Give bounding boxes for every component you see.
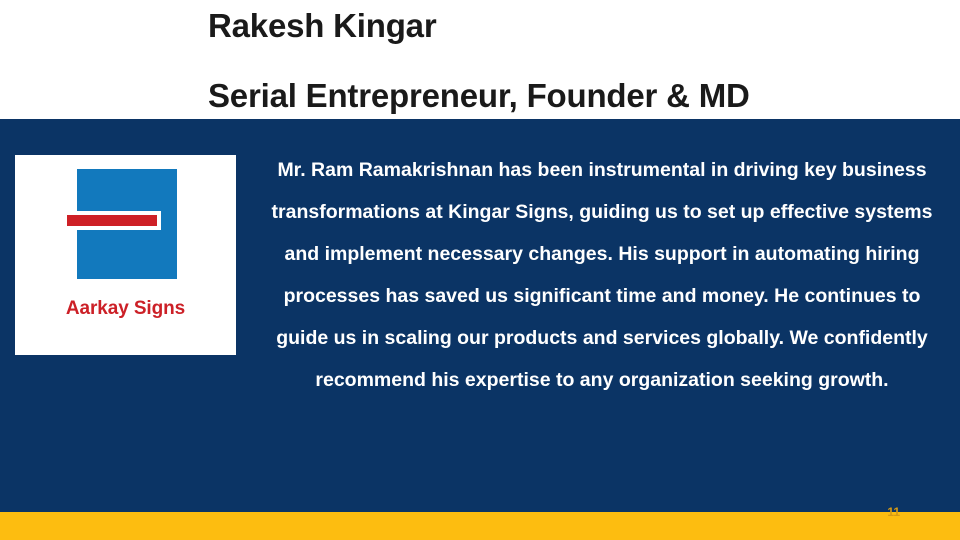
page-title: Rakesh Kingar (208, 6, 904, 46)
company-logo-card: Aarkay Signs (15, 155, 236, 355)
company-name-label: Aarkay Signs (15, 298, 236, 320)
testimonial-panel: Aarkay Signs Mr. Ram Ramakrishnan has be… (0, 119, 960, 512)
slide-canvas: Rakesh Kingar Serial Entrepreneur, Found… (0, 0, 960, 540)
page-subtitle: Serial Entrepreneur, Founder & MD (208, 76, 904, 116)
testimonial-text: Mr. Ram Ramakrishnan has been instrument… (255, 149, 949, 401)
slide-header: Rakesh Kingar Serial Entrepreneur, Found… (0, 0, 960, 119)
page-number: 11 (887, 505, 900, 519)
aarkay-signs-logo-icon (15, 169, 236, 289)
footer-accent-bar (0, 512, 960, 540)
logo-red-bar (67, 215, 157, 226)
